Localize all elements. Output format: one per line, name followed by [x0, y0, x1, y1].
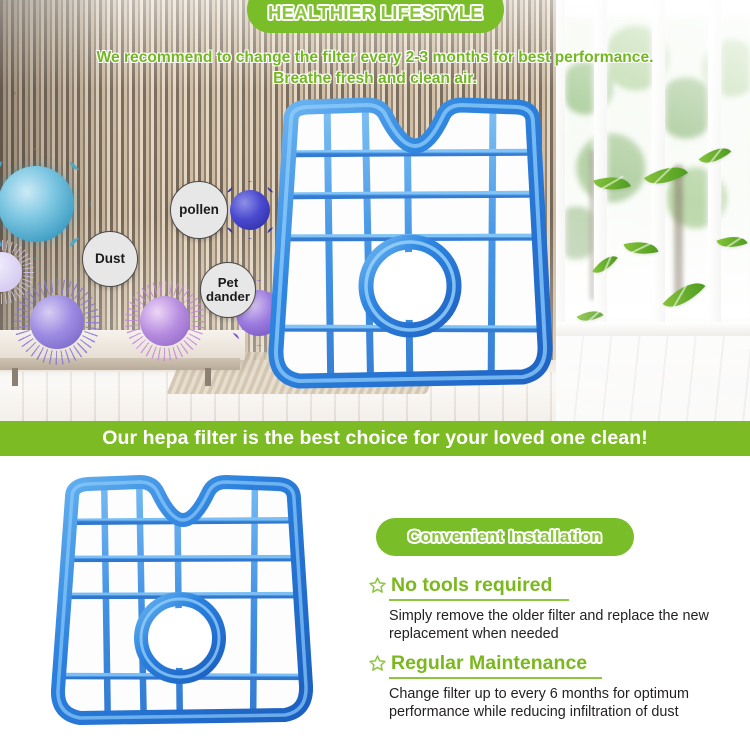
feature-heading: No tools required: [368, 574, 743, 597]
healthier-lifestyle-badge: HEALTHIER LIFESTYLE: [247, 0, 504, 33]
bottom-section: Convenient Installation No tools require…: [0, 456, 750, 750]
callout-label: Dust: [95, 252, 125, 266]
top-subtitle-line2: Breathe fresh and clean air.: [0, 69, 750, 90]
feature-regular-maintenance: Regular Maintenance Change filter up to …: [368, 652, 743, 722]
pollen-particle-icon: [30, 295, 84, 349]
feature-body: Change filter up to every 6 months for o…: [389, 686, 749, 722]
filter-illustration: [255, 96, 560, 402]
filter-center-hole: [376, 252, 444, 320]
callout-label: pollen: [179, 203, 219, 217]
bench-leg: [205, 368, 211, 386]
feature-heading: Regular Maintenance: [368, 652, 743, 675]
feature-underline: [389, 599, 569, 601]
convenient-installation-badge: Convenient Installation: [376, 518, 634, 556]
callout-pet-dander: Pet dander: [200, 262, 256, 318]
top-subtitle-line1: We recommend to change the filter every …: [0, 48, 750, 69]
feature-underline: [389, 677, 602, 679]
pollen-core: [140, 296, 190, 346]
top-subtitle: We recommend to change the filter every …: [0, 48, 750, 90]
virus-core: [0, 166, 74, 242]
virus-icon: [0, 166, 74, 242]
callout-dust: Dust: [82, 231, 138, 287]
hepa-filter-secondary-image: [40, 471, 325, 736]
promo-banner: Our hepa filter is the best choice for y…: [0, 421, 750, 456]
star-icon: [368, 576, 387, 595]
healthier-lifestyle-badge-label: HEALTHIER LIFESTYLE: [268, 2, 483, 24]
callout-pollen: pollen: [170, 181, 228, 239]
product-infographic: Dust pollen Pet dander HEALTHIER LIFESTY…: [0, 0, 750, 750]
feature-body: Simply remove the older filter and repla…: [389, 608, 737, 644]
bench-leg: [12, 368, 18, 386]
filter-illustration: [40, 471, 325, 736]
callout-label: Pet dander: [205, 276, 251, 304]
feature-title: No tools required: [391, 574, 552, 597]
pollen-particle-icon: [140, 296, 190, 346]
hepa-filter-main-image: [255, 96, 560, 402]
filter-center-hole: [150, 608, 210, 668]
pollen-particle-icon: [0, 252, 22, 292]
feature-no-tools-required: No tools required Simply remove the olde…: [368, 574, 743, 644]
feature-title: Regular Maintenance: [391, 652, 587, 675]
top-scene: Dust pollen Pet dander HEALTHIER LIFESTY…: [0, 0, 750, 421]
promo-banner-text: Our hepa filter is the best choice for y…: [102, 427, 648, 450]
star-icon: [368, 654, 387, 673]
convenient-installation-badge-label: Convenient Installation: [408, 527, 602, 547]
pollen-core: [30, 295, 84, 349]
